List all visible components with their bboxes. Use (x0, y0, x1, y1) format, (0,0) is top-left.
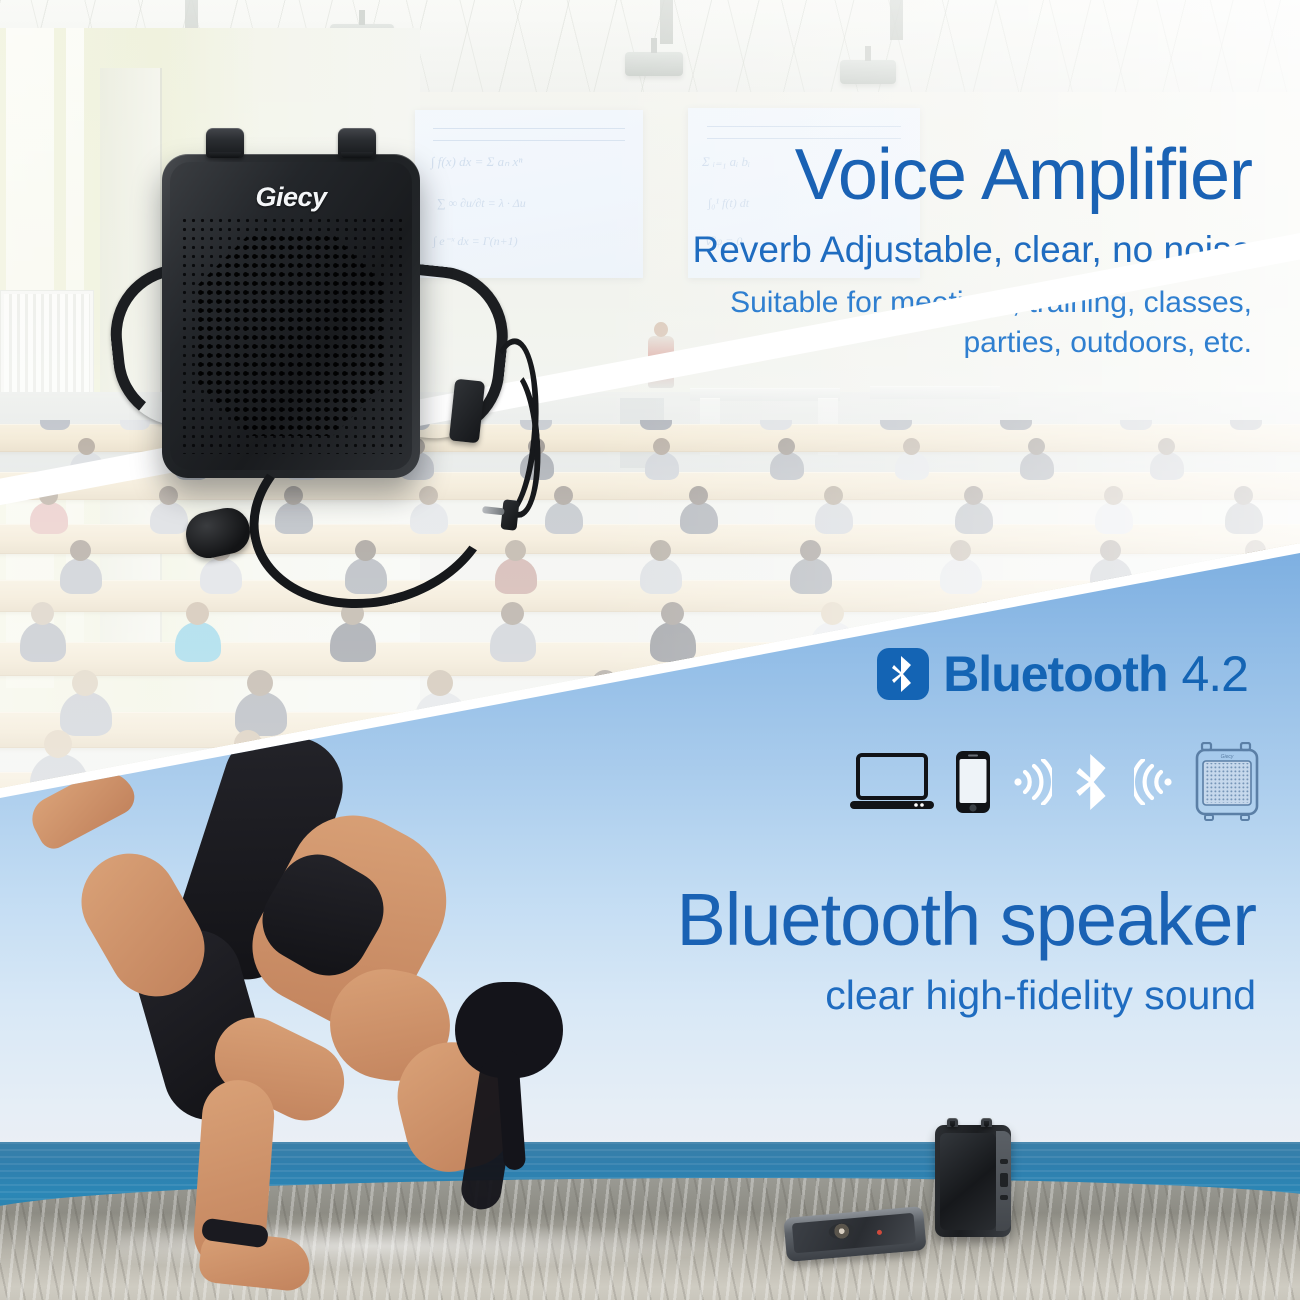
audience-head (964, 486, 983, 505)
audience-person (1020, 452, 1054, 480)
audience-person (235, 692, 287, 736)
smartphone-icon (954, 749, 992, 820)
audience-person (1120, 420, 1152, 430)
signal-waves-left-icon (1012, 759, 1052, 810)
audience-head (554, 486, 573, 505)
audience-person (880, 420, 912, 430)
svg-text:Giecy: Giecy (1221, 754, 1234, 760)
audience-person (790, 558, 832, 594)
audience-person (490, 622, 536, 662)
audience-person (680, 502, 718, 534)
audience-person (770, 452, 804, 480)
audience-person (940, 558, 982, 594)
screen-rule (707, 126, 902, 127)
reverb-knob[interactable] (338, 128, 376, 158)
audience-head (78, 438, 95, 455)
audience-head (72, 670, 98, 696)
audience-person (760, 420, 792, 430)
audience-head (1234, 486, 1253, 505)
brand-logo: Giecy (170, 182, 412, 213)
portable-speaker-icon: Giecy (1194, 742, 1260, 827)
audience-person (895, 452, 929, 480)
bluetooth-version: 4.2 (1181, 649, 1248, 699)
audience-head (821, 602, 844, 625)
audience-head (778, 438, 795, 455)
hero-product-amplifier: Giecy (150, 118, 550, 588)
audience-head (650, 540, 671, 561)
amplifier-grille (940, 1133, 996, 1230)
audience-head (824, 486, 843, 505)
audience-person (330, 622, 376, 662)
ceiling-projector-icon (840, 60, 896, 84)
audience-head (800, 540, 821, 561)
ceiling-beam (890, 0, 903, 40)
bluetooth-wordmark: Bluetooth (943, 649, 1167, 699)
audience-person (640, 420, 672, 430)
volume-knob[interactable] (206, 128, 244, 158)
amplifier-port (1000, 1173, 1008, 1187)
amplifier-port (1000, 1195, 1008, 1200)
audience-head (661, 602, 684, 625)
audience-head (1245, 540, 1266, 561)
bluetooth-rune-icon (1072, 749, 1114, 820)
audience-person (175, 622, 221, 662)
lab-bench (870, 386, 1000, 399)
audience-person (545, 502, 583, 534)
audience-head (903, 438, 920, 455)
page-title: Voice Amplifier (612, 138, 1252, 213)
audience-head (247, 670, 273, 696)
product-marketing-poster: ∫ f(x) dx = Σ aₙ xⁿ ∑ ∞ ∂u/∂t = λ · Δu ∫… (0, 0, 1300, 1300)
signal-waves-right-icon (1134, 759, 1174, 810)
audience-person (30, 502, 68, 534)
amplifier-knob-icon (947, 1118, 958, 1127)
audience-head (186, 602, 209, 625)
audience-person (120, 420, 150, 430)
audience-person (650, 622, 696, 662)
audio-plug (500, 499, 519, 531)
bottom-subheadline: clear high-fidelity sound (576, 971, 1256, 1020)
yoga-figure (0, 760, 620, 1280)
audience-person (1095, 502, 1133, 534)
speaker-grille-octagon (196, 234, 386, 436)
audience-person (1000, 420, 1032, 430)
audience-person (60, 692, 112, 736)
audience-head (950, 540, 971, 561)
audience-person (60, 558, 102, 594)
audience-head (1104, 486, 1123, 505)
audience-head (689, 486, 708, 505)
device-connection-chain: Giecy (850, 742, 1260, 827)
audience-head (653, 438, 670, 455)
bottom-headline: Bluetooth speaker (576, 882, 1256, 957)
audience-person (1150, 452, 1184, 480)
audience-person (640, 558, 682, 594)
audience-head (427, 670, 453, 696)
bottom-copy-block: Bluetooth speaker clear high-fidelity so… (576, 882, 1256, 1021)
bluetooth-logo: Bluetooth 4.2 (877, 648, 1248, 700)
voice-amplifier-prop (935, 1125, 1011, 1237)
audience-person (815, 502, 853, 534)
bluetooth-rune-icon (877, 648, 929, 700)
ceiling-projector-icon (625, 52, 683, 76)
audience-person (955, 502, 993, 534)
audience-person (1230, 420, 1262, 430)
amplifier-port (1000, 1159, 1008, 1164)
laptop-icon (850, 752, 934, 817)
audience-head (501, 602, 524, 625)
audience-head (1158, 438, 1175, 455)
audience-head (31, 602, 54, 625)
audience-head (1028, 438, 1045, 455)
audience-person (20, 622, 66, 662)
ceiling-beam (660, 0, 673, 44)
audience-head (1100, 540, 1121, 561)
audience-head (70, 540, 91, 561)
audience-person (40, 420, 70, 430)
audience-head (44, 730, 72, 758)
amplifier-knob-icon (981, 1118, 992, 1127)
microphone-windscreen (182, 504, 254, 562)
audience-person (645, 452, 679, 480)
audience-person (1225, 502, 1263, 534)
